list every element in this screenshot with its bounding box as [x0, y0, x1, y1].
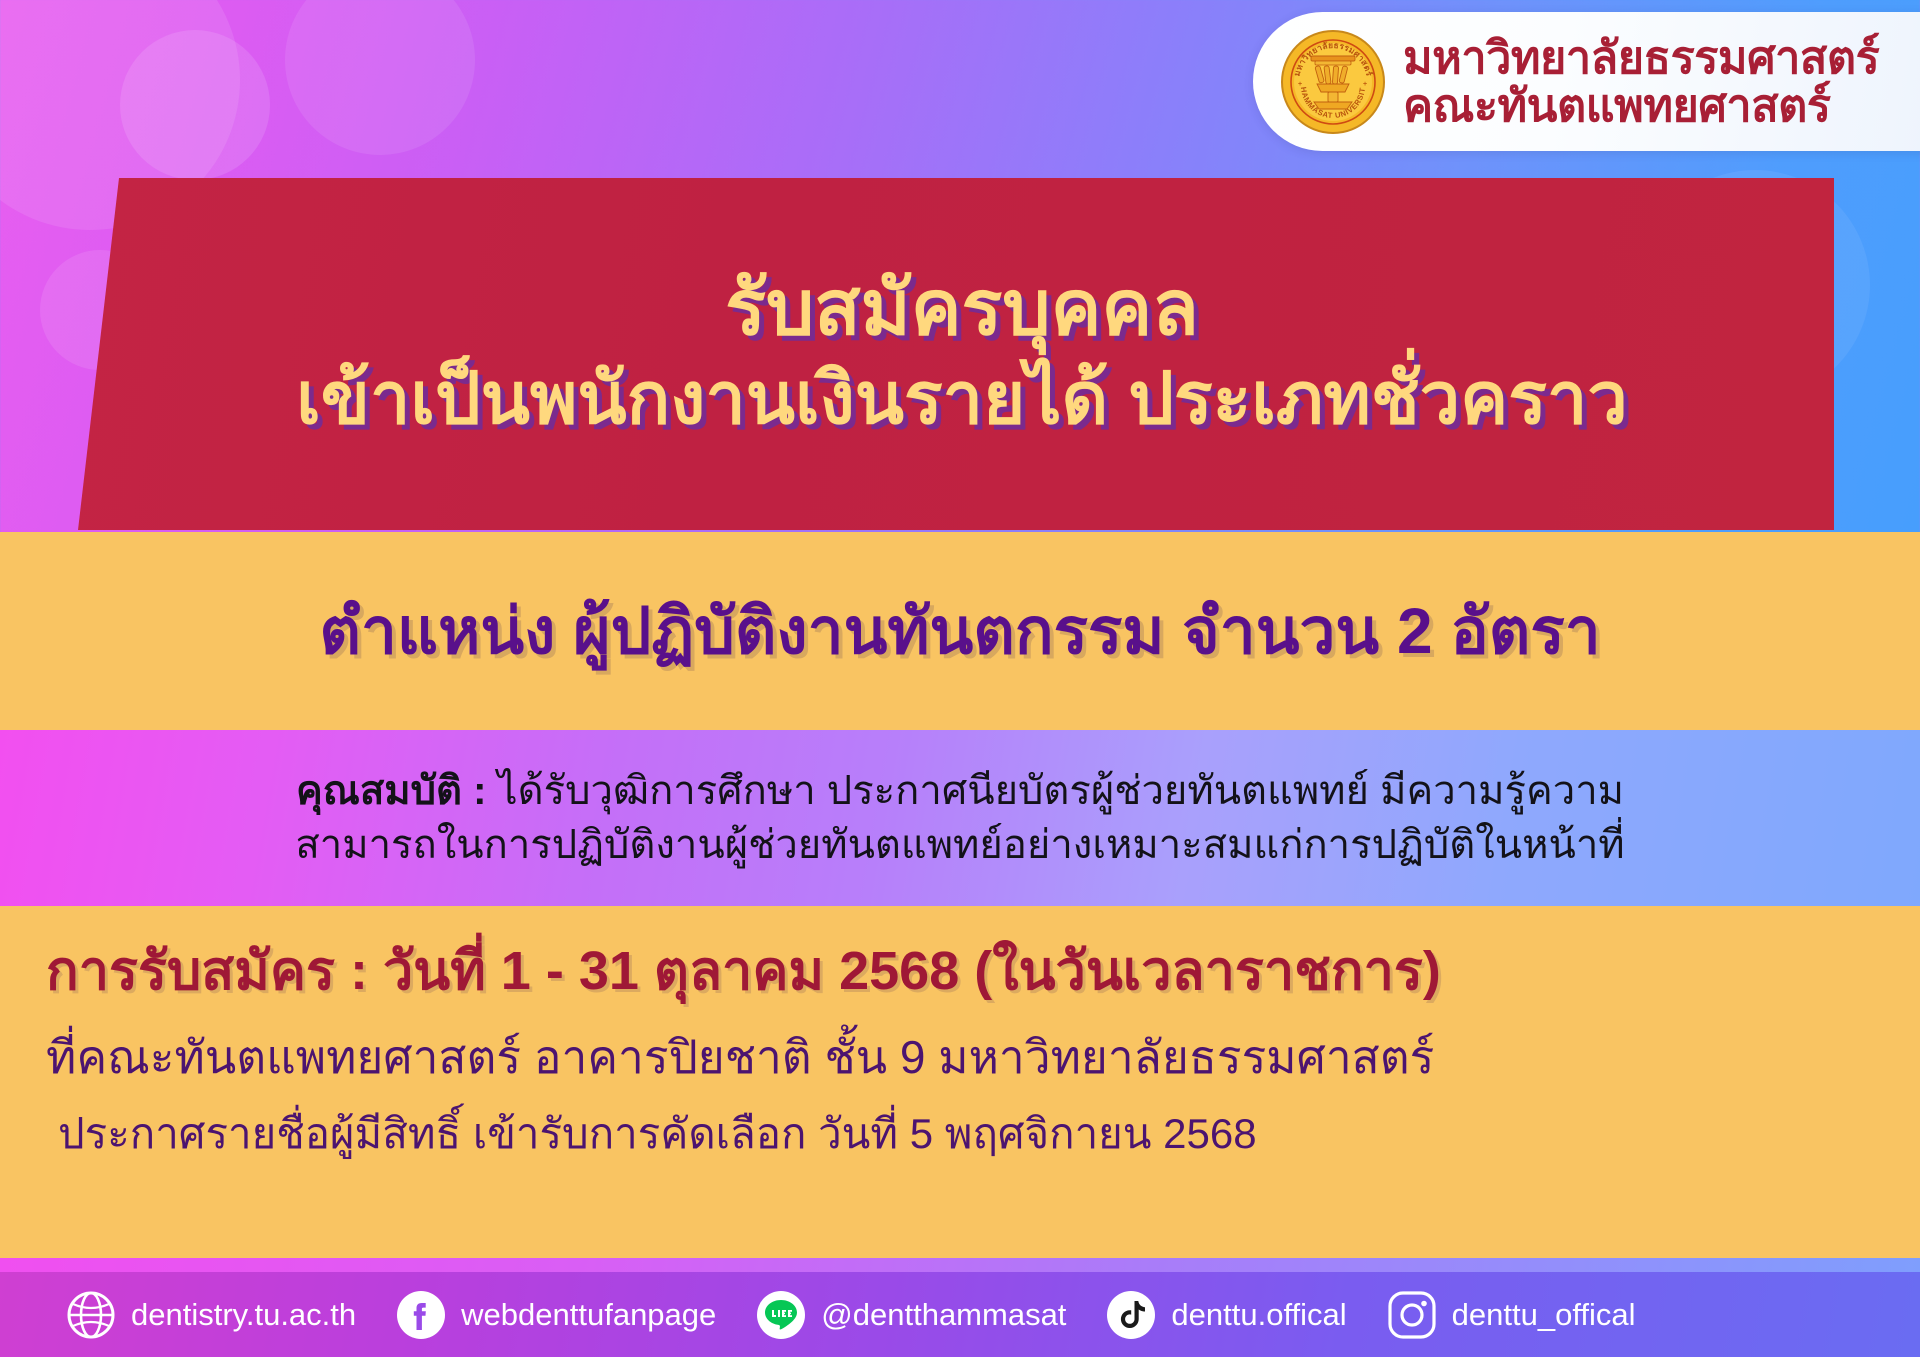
social-item-facebook[interactable]: webdenttufanpage	[396, 1290, 716, 1340]
globe-icon	[66, 1290, 116, 1340]
tiktok-icon	[1106, 1290, 1156, 1340]
banner-title-line1: รับสมัครบุคคล	[725, 266, 1199, 351]
header-branding-pill: + + มหาวิทยาลัยธรรมศาสตร์ THAMMASAT UNIV…	[1253, 12, 1920, 151]
svg-text:+: +	[1298, 81, 1302, 88]
bokeh-circle	[120, 30, 270, 180]
banner-title-line2: เข้าเป็นพนักงานเงินรายได้ ประเภทชั่วคราว	[296, 357, 1628, 442]
thammasat-university-seal-icon: + + มหาวิทยาลัยธรรมศาสตร์ THAMMASAT UNIV…	[1281, 30, 1385, 134]
facebook-label: webdenttufanpage	[461, 1297, 716, 1333]
qualifications-band: คุณสมบัติ : ได้รับวุฒิการศึกษา ประกาศนีย…	[0, 730, 1920, 906]
social-item-instagram[interactable]: denttu_offical	[1387, 1290, 1636, 1340]
header-text-block: มหาวิทยาลัยธรรมศาสตร์ คณะทันตแพทยศาสตร์	[1403, 35, 1879, 128]
result-announcement: ประกาศรายชื่อผู้มีสิทธิ์ เข้ารับการคัดเล…	[46, 1109, 1920, 1159]
qualifications-line1-text: ได้รับวุฒิการศึกษา ประกาศนียบัตรผู้ช่วยท…	[486, 769, 1624, 813]
website-label: dentistry.tu.ac.th	[131, 1297, 356, 1333]
qualifications-label: คุณสมบัติ :	[296, 769, 486, 813]
footer-social-bar: dentistry.tu.ac.th webdenttufanpage	[0, 1272, 1920, 1357]
bokeh-circle	[285, 0, 475, 155]
line-label: @dentthammasat	[821, 1297, 1066, 1333]
social-item-tiktok[interactable]: denttu.offical	[1106, 1290, 1346, 1340]
social-item-line[interactable]: @dentthammasat	[756, 1290, 1066, 1340]
position-text: ตำแหน่ง ผู้ปฏิบัติงานทันตกรรม จำนวน 2 อั…	[319, 580, 1600, 682]
details-section: การรับสมัคร : วันที่ 1 - 31 ตุลาคม 2568 …	[0, 906, 1920, 1270]
footer-accent-bar	[0, 1258, 1920, 1272]
tiktok-label: denttu.offical	[1171, 1297, 1346, 1333]
application-period-heading: การรับสมัคร : วันที่ 1 - 31 ตุลาคม 2568 …	[46, 940, 1920, 1004]
line-icon	[756, 1290, 806, 1340]
qualifications-line2: สามารถในการปฏิบัติงานผู้ช่วยทันตแพทย์อย่…	[295, 818, 1624, 872]
facebook-icon	[396, 1290, 446, 1340]
faculty-name: คณะทันตแพทยศาสตร์	[1403, 83, 1879, 128]
social-item-website[interactable]: dentistry.tu.ac.th	[66, 1290, 356, 1340]
position-band: ตำแหน่ง ผู้ปฏิบัติงานทันตกรรม จำนวน 2 อั…	[0, 532, 1920, 730]
svg-text:+: +	[1363, 81, 1367, 88]
application-location: ที่คณะทันตแพทยศาสตร์ อาคารปิยชาติ ชั้น 9…	[46, 1030, 1920, 1085]
announcement-banner: รับสมัครบุคคล เข้าเป็นพนักงานเงินรายได้ …	[0, 178, 1834, 530]
qualifications-line1: คุณสมบัติ : ได้รับวุฒิการศึกษา ประกาศนีย…	[296, 764, 1624, 818]
instagram-icon	[1387, 1290, 1437, 1340]
university-name: มหาวิทยาลัยธรรมศาสตร์	[1403, 35, 1879, 80]
instagram-label: denttu_offical	[1452, 1297, 1636, 1333]
